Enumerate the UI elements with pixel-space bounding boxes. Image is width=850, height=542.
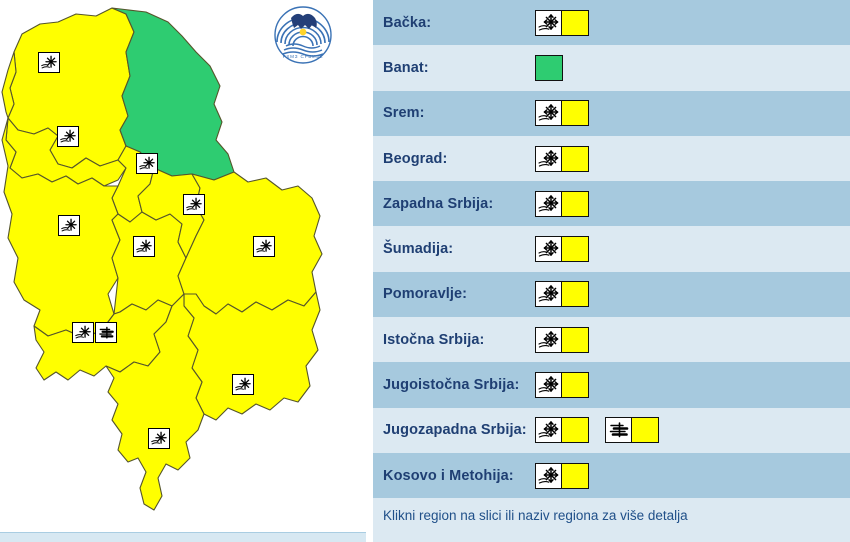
region-row-jugozapadna-srbija[interactable]: Jugozapadna Srbija: <box>369 408 850 453</box>
warning-phenomenon <box>536 101 562 125</box>
region-row-backa[interactable]: Bačka: <box>369 0 850 45</box>
region-label-beograd[interactable]: Beograd: <box>383 151 535 167</box>
region-label-zapadna-srbija[interactable]: Zapadna Srbija: <box>383 196 535 212</box>
region-row-zapadna-srbija[interactable]: Zapadna Srbija: <box>369 181 850 226</box>
region-label-jugozapadna-srbija[interactable]: Jugozapadna Srbija: <box>383 422 535 438</box>
warning-level-swatch <box>562 147 588 171</box>
warning-level-swatch <box>562 11 588 35</box>
region-row-jugoistocna-srbija[interactable]: Jugoistočna Srbija: <box>369 362 850 407</box>
map-badge-banat-area[interactable] <box>183 194 205 215</box>
region-label-pomoravlje[interactable]: Pomoravlje: <box>383 286 535 302</box>
meteoalarm-serbia-page: РХМЗ СРБИЈЕ <box>0 0 850 542</box>
region-warning-list: Bačka: Banat:Srem: <box>366 0 850 542</box>
region-label-jugoistocna-srbija[interactable]: Jugoistočna Srbija: <box>383 377 535 393</box>
snow-icon <box>538 12 560 34</box>
region-label-istocna-srbija[interactable]: Istočna Srbija: <box>383 332 535 348</box>
map-badge-jugozapadna-snow[interactable] <box>72 322 94 343</box>
warning-icons-jugozapadna-srbija <box>535 417 659 443</box>
warning-level-swatch <box>562 328 588 352</box>
snow-icon <box>538 374 560 396</box>
logo-caption: РХМЗ СРБИЈЕ <box>283 54 324 59</box>
warning-badge-jugozapadna-srbija-0 <box>535 417 589 443</box>
warning-badge-backa-0 <box>535 10 589 36</box>
warning-phenomenon <box>536 418 562 442</box>
warning-badge-sumadija-0 <box>535 236 589 262</box>
warning-phenomenon <box>536 373 562 397</box>
warning-badge-jugozapadna-srbija-1 <box>605 417 659 443</box>
snow-icon <box>41 54 58 71</box>
warning-phenomenon <box>536 328 562 352</box>
warning-icons-banat <box>535 55 563 81</box>
warning-phenomenon <box>536 147 562 171</box>
region-label-sumadija[interactable]: Šumadija: <box>383 241 535 257</box>
warning-icons-istocna-srbija <box>535 327 589 353</box>
warning-badge-srem-0 <box>535 100 589 126</box>
warning-icons-srem <box>535 100 589 126</box>
region-label-kosovo-i-metohija[interactable]: Kosovo i Metohija: <box>383 468 535 484</box>
region-row-kosovo-i-metohija[interactable]: Kosovo i Metohija: <box>369 453 850 498</box>
snow-icon <box>75 324 92 341</box>
warning-phenomenon <box>606 418 632 442</box>
warning-icons-pomoravlje <box>535 281 589 307</box>
warning-phenomenon <box>536 464 562 488</box>
snow-icon <box>136 238 153 255</box>
snow-icon <box>151 430 168 447</box>
warning-level-swatch <box>562 101 588 125</box>
map-badge-sumadija[interactable] <box>133 236 155 257</box>
warning-level-swatch <box>536 56 562 80</box>
region-row-banat[interactable]: Banat: <box>369 45 850 90</box>
snow-icon <box>538 193 560 215</box>
region-row-istocna-srbija[interactable]: Istočna Srbija: <box>369 317 850 362</box>
map-badge-beograd[interactable] <box>136 153 158 174</box>
serbia-map-panel[interactable]: РХМЗ СРБИЈЕ <box>0 0 366 542</box>
warning-level-swatch <box>562 373 588 397</box>
warning-phenomenon <box>536 237 562 261</box>
warning-badge-zapadna-srbija-0 <box>535 191 589 217</box>
snow-icon <box>538 148 560 170</box>
warning-phenomenon <box>536 192 562 216</box>
warning-icons-backa <box>535 10 589 36</box>
map-badge-jugoistocna-srbija[interactable] <box>232 374 254 395</box>
warning-icons-beograd <box>535 146 589 172</box>
snow-icon <box>139 155 156 172</box>
warning-phenomenon <box>536 11 562 35</box>
warning-phenomenon <box>536 282 562 306</box>
map-badge-backa[interactable] <box>38 52 60 73</box>
region-row-beograd[interactable]: Beograd: <box>369 136 850 181</box>
fog-icon <box>98 324 115 341</box>
map-region-jugoistocna-srbija[interactable] <box>184 292 320 420</box>
warning-level-swatch <box>632 418 658 442</box>
region-label-banat[interactable]: Banat: <box>383 60 535 76</box>
warning-icons-sumadija <box>535 236 589 262</box>
map-badge-zapadna-srbija[interactable] <box>58 215 80 236</box>
warning-badge-banat-0 <box>535 55 563 81</box>
warning-icons-zapadna-srbija <box>535 191 589 217</box>
serbia-regions-map[interactable] <box>0 0 366 542</box>
region-row-pomoravlje[interactable]: Pomoravlje: <box>369 272 850 317</box>
region-row-sumadija[interactable]: Šumadija: <box>369 226 850 271</box>
warning-level-swatch <box>562 192 588 216</box>
snow-icon <box>256 238 273 255</box>
map-badge-srem[interactable] <box>57 126 79 147</box>
snow-icon <box>538 329 560 351</box>
warning-badge-istocna-srbija-0 <box>535 327 589 353</box>
snow-icon <box>538 238 560 260</box>
footer-hint: Klikni region na slici ili naziv regiona… <box>369 498 850 542</box>
snow-icon <box>538 102 560 124</box>
region-label-backa[interactable]: Bačka: <box>383 15 535 31</box>
warning-icons-jugoistocna-srbija <box>535 372 589 398</box>
warning-badge-jugoistocna-srbija-0 <box>535 372 589 398</box>
warning-icons-kosovo-i-metohija <box>535 463 589 489</box>
warning-badge-pomoravlje-0 <box>535 281 589 307</box>
snow-icon <box>538 283 560 305</box>
rhmz-srbije-logo: РХМЗ СРБИЈЕ <box>272 2 334 66</box>
map-bottom-strip <box>0 532 366 542</box>
map-region-sumadija[interactable] <box>112 212 186 314</box>
region-label-srem[interactable]: Srem: <box>383 105 535 121</box>
snow-icon <box>235 376 252 393</box>
snow-icon <box>186 196 203 213</box>
fog-icon <box>608 419 630 441</box>
warning-badge-beograd-0 <box>535 146 589 172</box>
map-badge-istocna-srbija[interactable] <box>253 236 275 257</box>
warning-level-swatch <box>562 282 588 306</box>
snow-icon <box>61 217 78 234</box>
snow-icon <box>538 419 560 441</box>
warning-level-swatch <box>562 418 588 442</box>
footer-hint-text: Klikni region na slici ili naziv regiona… <box>383 508 688 523</box>
map-badge-jugozapadna-fog[interactable] <box>95 322 117 343</box>
snow-icon <box>538 465 560 487</box>
warning-badge-kosovo-i-metohija-0 <box>535 463 589 489</box>
warning-level-swatch <box>562 464 588 488</box>
warning-level-swatch <box>562 237 588 261</box>
map-badge-kosovo-i-metohija[interactable] <box>148 428 170 449</box>
snow-icon <box>60 128 77 145</box>
region-row-srem[interactable]: Srem: <box>369 91 850 136</box>
